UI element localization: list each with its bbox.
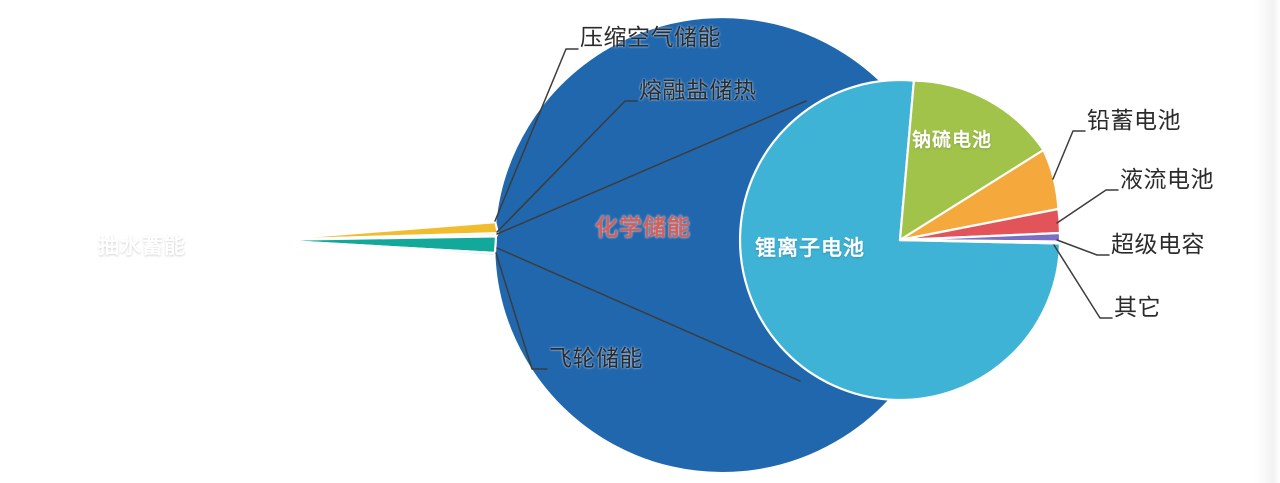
callout-label-supercapacitor: 超级电容	[1111, 233, 1205, 256]
callout-label-chemical-storage: 化学储能	[595, 216, 691, 239]
chem-slice-label-sodium-sulfur: 钠硫电池	[912, 131, 992, 150]
chem-slice-label-lithium-ion: 锂离子电池	[755, 238, 865, 259]
leader-lead-acid	[1053, 131, 1085, 179]
chart-canvas: 抽水蓄能 锂离子电池 钠硫电池 压缩空气储能 熔融盐储热 化学储能 飞轮储能 铅…	[0, 0, 1280, 483]
leader-flow-battery	[1057, 190, 1118, 223]
pie-chart-svg	[0, 0, 1280, 483]
callout-label-compressed-air: 压缩空气储能	[580, 26, 721, 49]
leader-other	[1054, 245, 1112, 318]
callout-label-flow-battery: 液流电池	[1120, 168, 1214, 191]
callout-label-lead-acid: 铅蓄电池	[1087, 109, 1181, 132]
callout-label-molten-salt: 熔融盐储热	[639, 79, 757, 102]
leader-supercapacitor	[1057, 240, 1109, 255]
callout-label-other: 其它	[1114, 296, 1161, 319]
callout-label-flywheel: 飞轮储能	[549, 347, 643, 370]
main-slice-label-pumped-hydro: 抽水蓄能	[98, 236, 186, 257]
chemical-pie-leaders	[1053, 131, 1118, 318]
